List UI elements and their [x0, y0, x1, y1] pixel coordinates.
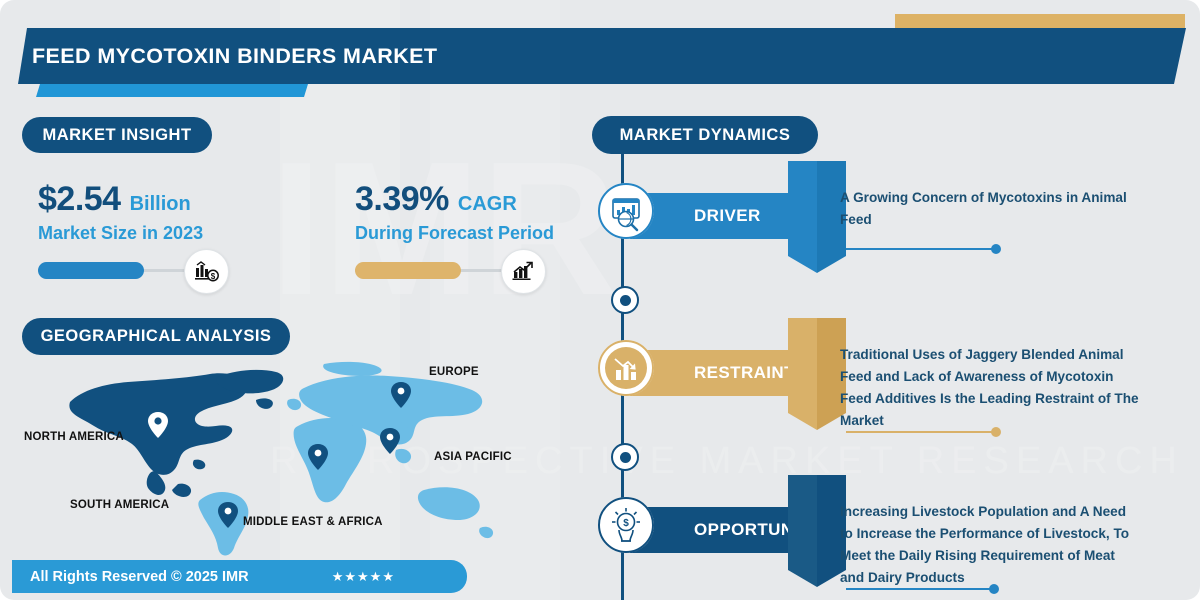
rating-stars: ★★★★★ [332, 569, 395, 585]
stat-unit: Billion [130, 193, 191, 216]
stat-value: 3.39% [355, 180, 449, 219]
timeline-node-2 [611, 443, 639, 471]
bar-chart-dollar-icon: $ [184, 249, 229, 294]
progress-cagr [355, 258, 555, 284]
stat-value: $2.54 [38, 180, 121, 219]
opportunity-leader-line [846, 588, 994, 590]
header-accent-bar [36, 84, 308, 97]
analytics-magnifier-icon [598, 183, 654, 239]
svg-text:$: $ [623, 518, 629, 529]
map-label-north-america: NORTH AMERICA [24, 431, 124, 443]
timeline-node-1 [611, 286, 639, 314]
driver-leader-line [846, 248, 996, 250]
restraint-ribbon [788, 318, 846, 430]
driver-label: DRIVER [694, 206, 761, 226]
declining-bar-chart-icon [598, 340, 654, 396]
growth-arrow-chart-icon [501, 249, 546, 294]
footer-bar: All Rights Reserved © 2025 IMR ★★★★★ [12, 560, 467, 593]
driver-text: A Growing Concern of Mycotoxins in Anima… [840, 187, 1140, 231]
progress-market-size: $ [38, 258, 238, 284]
restraint-label: RESTRAINT [694, 363, 795, 383]
copyright-text: All Rights Reserved © 2025 IMR [30, 569, 249, 585]
stat-subtitle: Market Size in 2023 [38, 223, 203, 244]
opportunity-ribbon [788, 475, 846, 587]
map-label-middle-east-africa: MIDDLE EAST & AFRICA [243, 516, 383, 528]
restraint-leader-line [846, 431, 996, 433]
header-gold-strip [895, 14, 1185, 28]
stat-cagr: 3.39% CAGR During Forecast Period [355, 180, 554, 244]
lightbulb-dollar-icon: $ [598, 497, 654, 553]
opportunity-text: Increasing Livestock Population and A Ne… [840, 501, 1140, 589]
market-insight-heading: MARKET INSIGHT [22, 117, 212, 153]
page-title: FEED MYCOTOXIN BINDERS MARKET [32, 44, 437, 69]
stat-subtitle: During Forecast Period [355, 223, 554, 244]
svg-text:$: $ [210, 272, 215, 281]
infographic-canvas: IMR RETROSPECTIVE MARKET RESEARCH FEED M… [0, 0, 1200, 600]
driver-ribbon [788, 161, 846, 273]
progress-fill [355, 262, 461, 279]
map-label-asia-pacific: ASIA PACIFIC [434, 451, 512, 463]
map-label-south-america: SOUTH AMERICA [70, 499, 169, 511]
map-label-europe: EUROPE [429, 366, 479, 378]
geographical-analysis-heading: GEOGRAPHICAL ANALYSIS [22, 318, 290, 355]
stat-market-size: $2.54 Billion Market Size in 2023 [38, 180, 203, 244]
restraint-text: Traditional Uses of Jaggery Blended Anim… [840, 344, 1140, 432]
stat-unit: CAGR [458, 193, 517, 216]
market-dynamics-heading: MARKET DYNAMICS [592, 116, 818, 154]
progress-fill [38, 262, 144, 279]
